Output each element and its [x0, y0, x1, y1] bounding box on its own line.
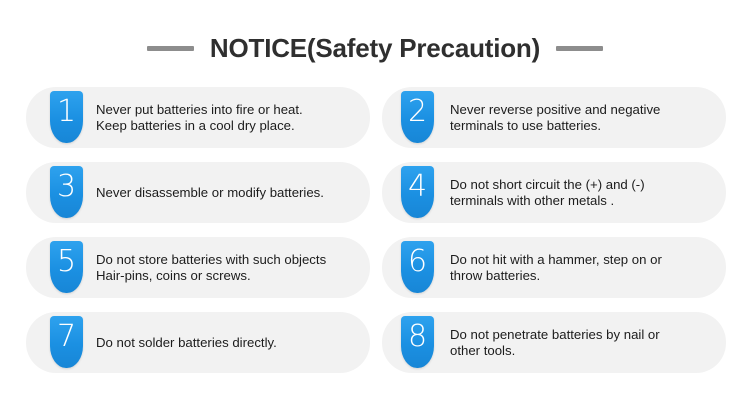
notice-badge-2: 2 [401, 91, 434, 143]
notice-badge-1: 1 [50, 91, 83, 143]
notice-text-4: Do not short circuit the (+) and (-) ter… [450, 177, 716, 208]
notice-number-4: 4 [408, 166, 427, 207]
notice-text-3: Never disassemble or modify batteries. [96, 185, 360, 201]
notice-number-7: 7 [57, 316, 76, 357]
notice-number-3: 3 [57, 166, 76, 207]
notice-badge-3: 3 [50, 166, 83, 218]
notice-badge-4: 4 [401, 166, 434, 218]
notice-card-7: 7 Do not solder batteries directly. [26, 312, 370, 373]
notice-text-1: Never put batteries into fire or heat. K… [96, 102, 360, 133]
notice-number-1: 1 [57, 91, 76, 132]
title-left-rule-icon [147, 46, 194, 51]
notice-badge-7: 7 [50, 316, 83, 368]
notice-grid: 1 Never put batteries into fire or heat.… [26, 87, 726, 373]
notice-card-4: 4 Do not short circuit the (+) and (-) t… [382, 162, 726, 223]
notice-text-2: Never reverse positive and negative term… [450, 102, 716, 133]
page-title-row: NOTICE(Safety Precaution) [0, 26, 750, 70]
notice-card-2: 2 Never reverse positive and negative te… [382, 87, 726, 148]
notice-number-2: 2 [408, 91, 427, 132]
notice-text-8: Do not penetrate batteries by nail or ot… [450, 327, 716, 358]
notice-page: NOTICE(Safety Precaution) 1 Never put ba… [0, 0, 750, 412]
page-title: NOTICE(Safety Precaution) [210, 35, 540, 61]
notice-number-8: 8 [408, 316, 427, 357]
notice-badge-8: 8 [401, 316, 434, 368]
notice-text-7: Do not solder batteries directly. [96, 335, 360, 351]
notice-number-6: 6 [408, 241, 427, 282]
title-right-rule-icon [556, 46, 603, 51]
notice-card-3: 3 Never disassemble or modify batteries. [26, 162, 370, 223]
notice-text-6: Do not hit with a hammer, step on or thr… [450, 252, 716, 283]
notice-badge-6: 6 [401, 241, 434, 293]
notice-card-5: 5 Do not store batteries with such objec… [26, 237, 370, 298]
notice-card-8: 8 Do not penetrate batteries by nail or … [382, 312, 726, 373]
notice-card-1: 1 Never put batteries into fire or heat.… [26, 87, 370, 148]
notice-number-5: 5 [57, 241, 76, 282]
notice-card-6: 6 Do not hit with a hammer, step on or t… [382, 237, 726, 298]
notice-badge-5: 5 [50, 241, 83, 293]
notice-text-5: Do not store batteries with such objects… [96, 252, 360, 283]
